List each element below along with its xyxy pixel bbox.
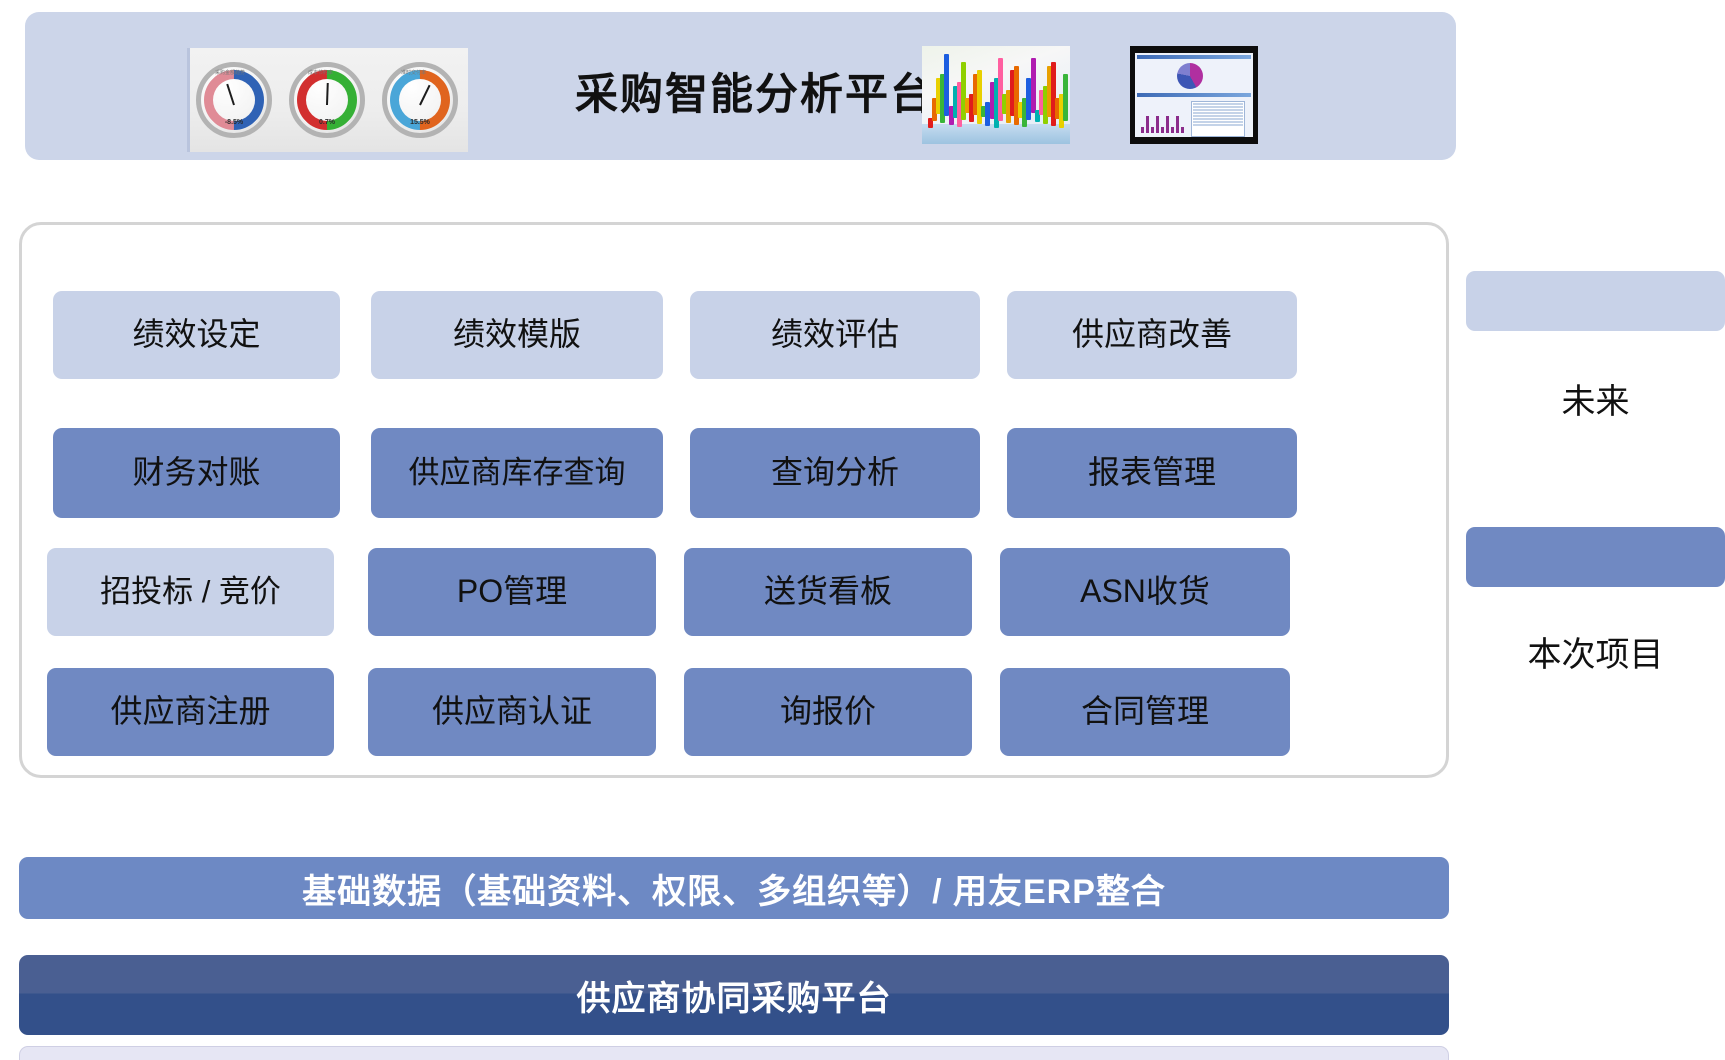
dashboard-bar [1156, 116, 1159, 133]
platform-bar: 供应商协同采购平台 [19, 955, 1449, 1035]
dashboard-bar [1141, 127, 1144, 133]
module-card-label: 供应商注册 [110, 694, 270, 729]
module-card-3-1[interactable]: 供应商认证 [368, 668, 656, 756]
module-card-1-1[interactable]: 供应商库存查询 [371, 428, 663, 518]
legend-swatch-future [1466, 271, 1725, 331]
gauge-right-title: 准时交付率 [401, 69, 426, 76]
module-card-label: 查询分析 [771, 455, 899, 490]
gauge-dashboard-thumbnail: -8.5%采购金额趋势0.7%成本节约率15.5%准时交付率 [187, 48, 468, 152]
module-card-label: 报表管理 [1088, 455, 1216, 490]
dashboard-bar [1176, 116, 1179, 133]
module-card-0-3[interactable]: 供应商改善 [1007, 291, 1297, 379]
dashboard-screen [1135, 53, 1253, 137]
module-card-label: 询报价 [780, 694, 876, 729]
module-card-label: 供应商改善 [1072, 317, 1232, 352]
module-card-label: 供应商认证 [432, 694, 592, 729]
dashboard-bar [1146, 116, 1149, 133]
module-card-0-0[interactable]: 绩效设定 [53, 291, 340, 379]
module-card-label: 财务对账 [132, 455, 260, 490]
module-card-2-2[interactable]: 送货看板 [684, 548, 972, 636]
dashboard-bar [1161, 127, 1164, 133]
chart-bar [1031, 58, 1036, 113]
module-card-1-3[interactable]: 报表管理 [1007, 428, 1297, 518]
legend: 未来 本次项目 [1466, 222, 1725, 778]
gauge-middle-title: 成本节约率 [308, 69, 333, 76]
page-title: 采购智能分析平台 [565, 60, 945, 122]
dashboard-bar [1151, 127, 1154, 133]
module-card-label: 绩效设定 [132, 317, 260, 352]
gauge-right-value: 15.5% [387, 119, 453, 126]
bottom-partial-bar [19, 1046, 1449, 1060]
3d-bar-chart-thumbnail [922, 46, 1070, 144]
gauge-left: -8.5%采购金额趋势 [196, 62, 272, 138]
dashboard-bar [1166, 116, 1169, 133]
module-card-0-1[interactable]: 绩效模版 [371, 291, 663, 379]
base-data-bar: 基础数据（基础资料、权限、多组织等）/ 用友ERP整合 [19, 857, 1449, 919]
module-card-label: PO管理 [457, 574, 567, 609]
module-card-3-3[interactable]: 合同管理 [1000, 668, 1290, 756]
dashboard-toolbar [1137, 55, 1251, 59]
module-card-label: 合同管理 [1081, 694, 1209, 729]
dashboard-bar [1171, 127, 1174, 133]
dashboard-section-header [1137, 93, 1251, 97]
chart-bar [1063, 74, 1068, 121]
module-card-2-3[interactable]: ASN收货 [1000, 548, 1290, 636]
module-card-0-2[interactable]: 绩效评估 [690, 291, 980, 379]
module-card-label: 送货看板 [764, 574, 892, 609]
dashboard-pie-chart [1177, 63, 1203, 89]
legend-label-current: 本次项目 [1466, 627, 1725, 676]
header-banner: -8.5%采购金额趋势0.7%成本节约率15.5%准时交付率 采购智能分析平台 [25, 12, 1456, 160]
dashboard-bar [1181, 127, 1184, 133]
module-card-label: 招投标 / 竞价 [100, 575, 281, 609]
gauge-left-value: -8.5% [201, 119, 267, 126]
dashboard-screen-thumbnail [1130, 46, 1258, 144]
legend-label-future: 未来 [1466, 374, 1725, 423]
module-card-1-2[interactable]: 查询分析 [690, 428, 980, 518]
module-card-label: 绩效评估 [771, 317, 899, 352]
gauge-middle-value: 0.7% [294, 119, 360, 126]
legend-swatch-current [1466, 527, 1725, 587]
module-card-2-0[interactable]: 招投标 / 竞价 [47, 548, 334, 636]
gauge-middle: 0.7%成本节约率 [289, 62, 365, 138]
gauge-left-title: 采购金额趋势 [215, 69, 245, 76]
module-card-2-1[interactable]: PO管理 [368, 548, 656, 636]
module-card-3-0[interactable]: 供应商注册 [47, 668, 334, 756]
dashboard-data-table [1191, 101, 1245, 137]
module-card-label: ASN收货 [1080, 574, 1210, 609]
module-card-label: 绩效模版 [453, 317, 581, 352]
module-card-3-2[interactable]: 询报价 [684, 668, 972, 756]
module-panel: 绩效设定绩效模版绩效评估供应商改善财务对账供应商库存查询查询分析报表管理招投标 … [19, 222, 1449, 778]
module-card-1-0[interactable]: 财务对账 [53, 428, 340, 518]
gauge-right: 15.5%准时交付率 [382, 62, 458, 138]
module-card-label: 供应商库存查询 [409, 456, 626, 490]
